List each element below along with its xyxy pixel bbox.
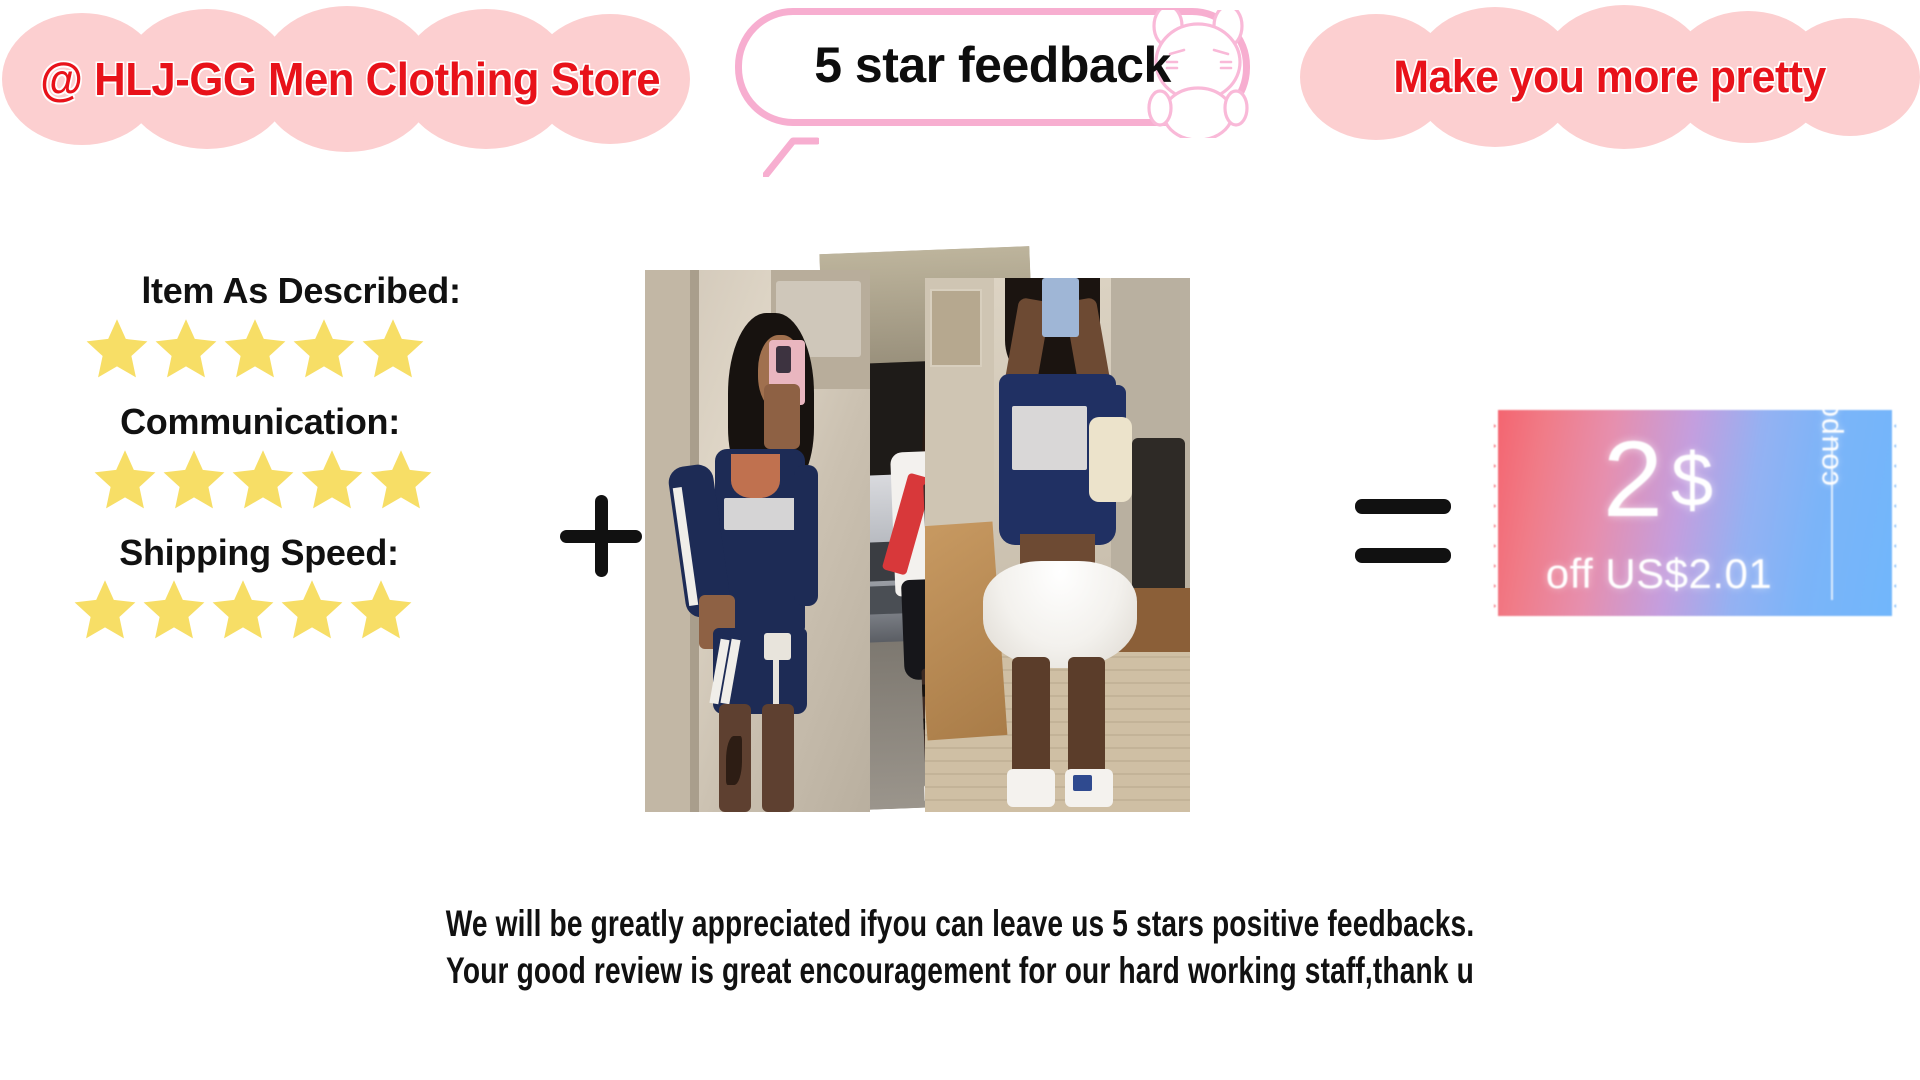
discount-coupon: 2$ off US$2.01 coupon (1480, 400, 1910, 630)
star-icon (161, 447, 227, 511)
star-icon (72, 577, 138, 641)
feedback-promo-banner: @ HLJ-GG Men Clothing Store (0, 0, 1920, 1080)
star-icon (153, 316, 219, 380)
coupon-subtitle: off US$2.01 (1494, 550, 1824, 598)
rating-label: Shipping Speed: (70, 534, 510, 572)
star-icon (84, 316, 150, 380)
star-rating-shipping-speed (70, 577, 510, 641)
rating-row-shipping-speed: Shipping Speed: (70, 534, 510, 642)
rating-label: ltem As Described: (70, 272, 510, 310)
star-icon (360, 316, 426, 380)
feedback-request-line-2: Your good review is great encouragement … (230, 947, 1689, 994)
plus-sign-icon (560, 495, 642, 577)
feedback-request-text: We will be greatly appreciated ifyou can… (0, 900, 1920, 995)
rating-label: Communication: (70, 403, 510, 441)
coupon-amount-value: 2 (1603, 418, 1665, 539)
customer-photo-1 (645, 270, 870, 812)
customer-photo-3 (925, 278, 1190, 812)
promo-slogan-banner: Make you more pretty (1300, 2, 1920, 152)
coupon-currency-symbol: $ (1671, 438, 1715, 523)
star-icon (141, 577, 207, 641)
star-icon (368, 447, 434, 511)
star-icon (299, 447, 365, 511)
feedback-bubble-text: 5 star feedback (735, 8, 1250, 126)
star-rating-communication (70, 447, 510, 511)
feedback-request-line-1: We will be greatly appreciated ifyou can… (230, 900, 1689, 947)
star-icon (210, 577, 276, 641)
star-icon (348, 577, 414, 641)
rating-row-item-as-described: ltem As Described: (70, 272, 510, 380)
star-icon (222, 316, 288, 380)
speech-bubble-tail-icon (763, 135, 819, 177)
coupon-body: 2$ off US$2.01 coupon (1494, 410, 1896, 616)
ratings-panel: ltem As Described: Communication: Shippi… (70, 272, 510, 664)
star-icon (291, 316, 357, 380)
customer-photo-collage (645, 250, 1345, 820)
coupon-right-serration-icon (1892, 410, 1908, 616)
coupon-amount: 2$ (1494, 424, 1824, 534)
equals-sign-icon (1355, 492, 1451, 574)
store-name-text: @ HLJ-GG Men Clothing Store (40, 52, 660, 106)
promo-slogan-text: Make you more pretty (1394, 51, 1826, 103)
feedback-speech-bubble: 5 star feedback (735, 8, 1270, 148)
store-name-banner: @ HLJ-GG Men Clothing Store (0, 4, 700, 154)
star-icon (92, 447, 158, 511)
star-icon (230, 447, 296, 511)
star-icon (279, 577, 345, 641)
star-rating-item-as-described (70, 316, 510, 380)
rating-row-communication: Communication: (70, 403, 510, 511)
coupon-left-serration-icon (1482, 410, 1498, 616)
